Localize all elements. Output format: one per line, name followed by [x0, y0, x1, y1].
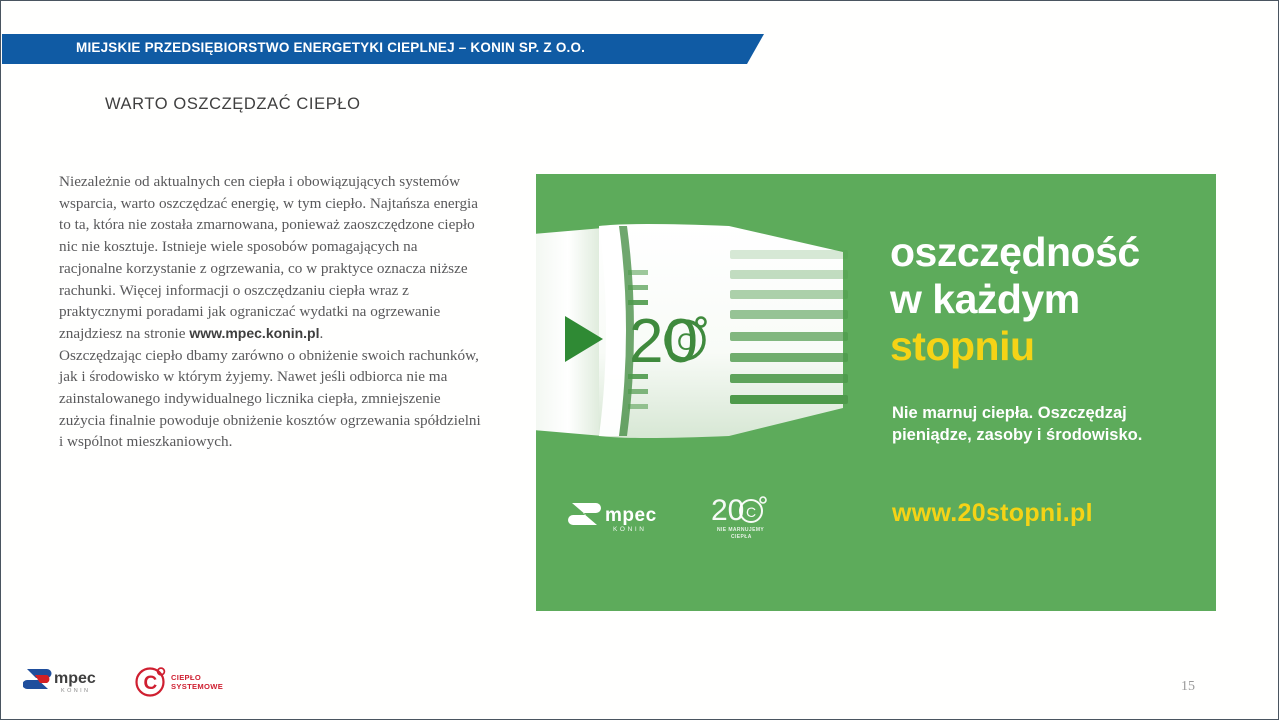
promo-headline-line-2: w każdym — [890, 276, 1210, 323]
paragraph-one-tail: . — [319, 325, 323, 342]
cs-line-2: SYSTEMOWE — [171, 682, 223, 691]
body-text-column: Niezależnie od aktualnych cen ciepła i o… — [59, 171, 484, 453]
svg-text:C: C — [677, 329, 694, 356]
promo-headline-line-1: oszczędność — [890, 229, 1210, 276]
promo-mpec-subwordmark: KONIN — [613, 526, 647, 533]
promo-subline: Nie marnuj ciepła. Oszczędzaj pieniądze,… — [892, 402, 1207, 446]
promo-20stopni-logo: 20 C NIE MARNUJEMY CIEPŁA — [711, 492, 781, 540]
paragraph-two: Oszczędzając ciepło dbamy zarówno o obni… — [59, 345, 484, 454]
footer-mpec-subwordmark: KONIN — [61, 688, 90, 694]
svg-text:C: C — [746, 504, 756, 520]
cs-letter: C — [144, 673, 158, 694]
page-number: 15 — [1181, 679, 1195, 695]
cs-line-1: CIEPŁO — [171, 673, 201, 682]
promo-url[interactable]: www.20stopni.pl — [892, 499, 1093, 528]
promo-banner: 20 C oszczędność w każd — [536, 174, 1216, 611]
page-title: WARTO OSZCZĘDZAĆ CIEPŁO — [105, 95, 361, 114]
header-title: MIEJSKIE PRZEDSIĘBIORSTWO ENERGETYKI CIE… — [76, 40, 585, 55]
promo-headline-line-3: stopniu — [890, 323, 1210, 370]
footer-mpec-logo: mpec KONIN — [23, 663, 123, 703]
footer-cieplo-systemowe-logo: C CIEPŁO SYSTEMOWE — [132, 663, 228, 703]
promo-mpec-wordmark: mpec — [605, 505, 657, 526]
promo-20-tagline-2: CIEPŁA — [731, 534, 752, 540]
presentation-slide: MIEJSKIE PRZEDSIĘBIORSTWO ENERGETYKI CIE… — [0, 0, 1279, 720]
thermostatic-valve-illustration: 20 C — [536, 222, 863, 467]
promo-20-tagline-1: NIE MARNUJEMY — [717, 527, 764, 533]
footer-mpec-wordmark: mpec — [54, 670, 96, 687]
mpec-website-link[interactable]: www.mpec.konin.pl — [189, 325, 319, 341]
paragraph-one-text: Niezależnie od aktualnych cen ciepła i o… — [59, 173, 478, 342]
paragraph-one: Niezależnie od aktualnych cen ciepła i o… — [59, 171, 484, 345]
promo-headline: oszczędność w każdym stopniu — [890, 229, 1210, 370]
promo-mpec-logo: mpec KONIN — [567, 499, 693, 533]
